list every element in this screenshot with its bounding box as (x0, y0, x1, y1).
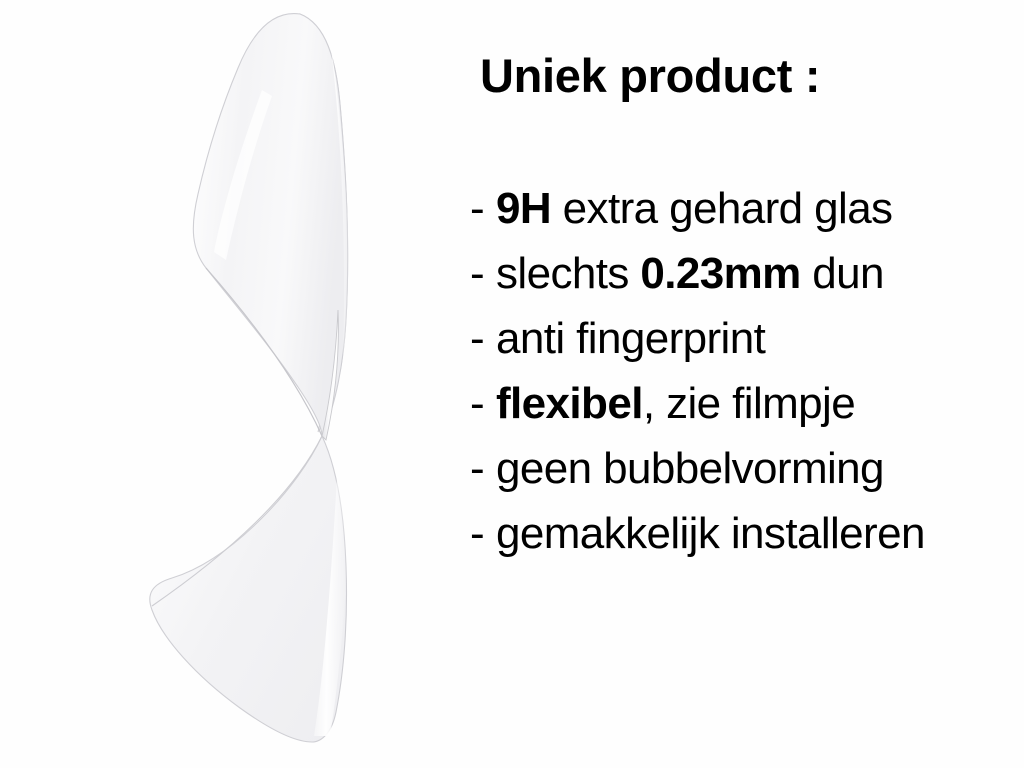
glass-lower-front-face (150, 436, 347, 742)
list-item: -9H extra gehard glas (470, 176, 1024, 241)
feature-text-pre: anti fingerprint (496, 314, 765, 363)
page-title: Uniek product : (480, 52, 820, 99)
list-item: -gemakkelijk installeren (470, 501, 1024, 566)
list-item: -geen bubbelvorming (470, 436, 1024, 501)
feature-list: -9H extra gehard glas -slechts 0.23mm du… (470, 176, 1024, 566)
feature-text-post: , zie filmpje (643, 379, 855, 428)
feature-text-pre: geen bubbelvorming (496, 444, 884, 493)
feature-text-strong: 0.23mm (640, 249, 800, 298)
feature-text-pre: gemakkelijk installeren (496, 509, 925, 558)
feature-text-strong: flexibel (496, 379, 643, 428)
product-image (0, 0, 460, 768)
bullet-dash: - (470, 241, 496, 306)
bullet-dash: - (470, 306, 496, 371)
feature-text-post: extra gehard glas (551, 184, 892, 233)
bullet-dash: - (470, 176, 496, 241)
glass-upper-front-face (193, 14, 347, 436)
bullet-dash: - (470, 371, 496, 436)
feature-text-post: dun (801, 249, 884, 298)
bent-tempered-glass-icon (0, 0, 460, 768)
bullet-dash: - (470, 501, 496, 566)
list-item: -slechts 0.23mm dun (470, 241, 1024, 306)
feature-text-strong: 9H (496, 184, 551, 233)
bullet-dash: - (470, 436, 496, 501)
list-item: -anti fingerprint (470, 306, 1024, 371)
product-feature-slide: Uniek product : -9H extra gehard glas -s… (0, 0, 1024, 768)
feature-panel: Uniek product : -9H extra gehard glas -s… (470, 0, 1024, 768)
feature-text-pre: slechts (496, 249, 640, 298)
list-item: -flexibel, zie filmpje (470, 371, 1024, 436)
